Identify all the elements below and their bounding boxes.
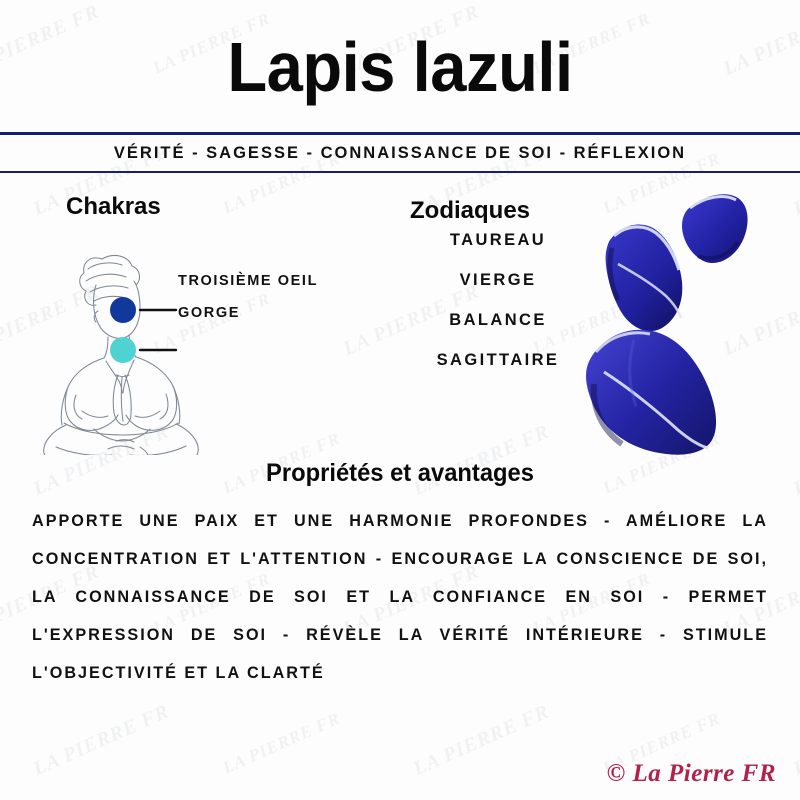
zodiaques-heading: Zodiaques xyxy=(410,197,530,225)
info-card: Lapis lazuli VÉRITÉ - SAGESSE - CONNAISS… xyxy=(0,0,800,800)
stone-bottom xyxy=(586,330,716,455)
zodiac-item: BALANCE xyxy=(400,311,596,330)
properties-heading: Propriétés et avantages xyxy=(20,459,780,488)
middle-section: Chakras xyxy=(0,173,800,463)
properties-body: APPORTE UNE PAIX ET UNE HARMONIE PROFOND… xyxy=(32,502,768,692)
page-title: Lapis lazuli xyxy=(28,0,772,102)
chakra-dot-throat xyxy=(110,337,136,363)
zodiac-item: TAUREAU xyxy=(400,231,596,250)
chakra-label-throat: GORGE xyxy=(178,305,240,321)
copyright-credit: © La Pierre FR xyxy=(607,760,776,788)
lapis-stones-image xyxy=(570,178,800,468)
subtitle-band: VÉRITÉ - SAGESSE - CONNAISSANCE DE SOI -… xyxy=(0,132,800,173)
meditation-figure xyxy=(30,225,260,455)
stone-top-right xyxy=(682,194,748,263)
zodiac-item: SAGITTAIRE xyxy=(400,351,596,370)
zodiac-list: TAUREAU VIERGE BALANCE SAGITTAIRE xyxy=(400,231,596,391)
chakras-heading: Chakras xyxy=(66,193,161,221)
chakra-label-third-eye: TROISIÈME OEIL xyxy=(178,273,318,289)
chakra-dot-third-eye xyxy=(110,297,136,323)
zodiac-item: VIERGE xyxy=(400,271,596,290)
stone-middle-left xyxy=(606,225,683,332)
subtitle-keywords: VÉRITÉ - SAGESSE - CONNAISSANCE DE SOI -… xyxy=(114,144,686,163)
